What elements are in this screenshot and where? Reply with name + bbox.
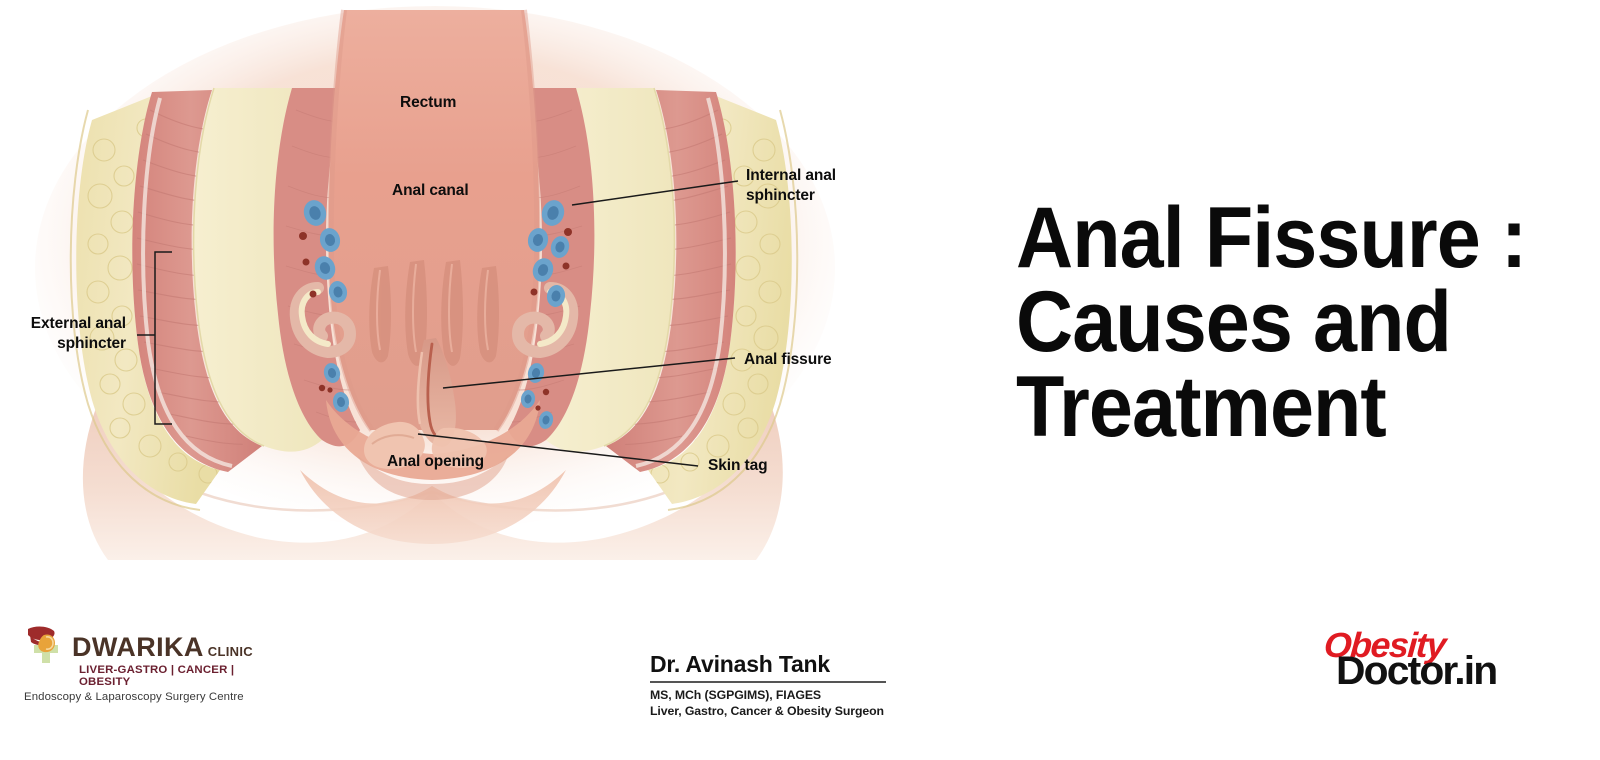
dwarika-tagline: Endoscopy & Laparoscopy Surgery Centre <box>24 691 262 703</box>
doctor-qualifications: MS, MCh (SGPGIMS), FIAGES <box>650 688 940 704</box>
title-line-2: Causes and <box>1016 280 1494 364</box>
label-anal-opening: Anal opening <box>387 452 484 472</box>
doctor-name-divider <box>650 681 886 683</box>
label-anal-fissure: Anal fissure <box>744 350 832 370</box>
label-rectum: Rectum <box>400 93 456 113</box>
obesity-logo-word-black: Doctor.in <box>1336 651 1536 691</box>
label-external-anal-sphincter: External anal sphincter <box>18 314 126 355</box>
obesity-doctor-logo: Obesity Doctor.in <box>1322 628 1532 694</box>
liver-stomach-cross-icon <box>22 623 72 663</box>
label-internal-anal-sphincter: Internal anal sphincter <box>746 166 836 207</box>
title-line-3: Treatment <box>1016 365 1494 449</box>
anal-fissure-illustration: Rectum Anal canal Internal anal sphincte… <box>0 0 900 560</box>
label-anal-canal: Anal canal <box>392 181 469 201</box>
dwarika-specialties: LIVER-GASTRO | CANCER | OBESITY <box>79 664 262 688</box>
dwarika-clinic-logo: DWARIKA CLINIC LIVER-GASTRO | CANCER | O… <box>22 627 262 699</box>
doctor-credentials-block: Dr. Avinash Tank MS, MCh (SGPGIMS), FIAG… <box>650 652 940 720</box>
dwarika-wordmark: DWARIKA <box>72 634 204 661</box>
doctor-name: Dr. Avinash Tank <box>650 652 940 676</box>
title-line-1: Anal Fissure : <box>1016 196 1494 280</box>
page-title: Anal Fissure : Causes and Treatment <box>1016 196 1536 449</box>
dwarika-logo-top-row: DWARIKA CLINIC <box>22 627 262 663</box>
infographic-canvas: Rectum Anal canal Internal anal sphincte… <box>0 0 1600 760</box>
dwarika-icon-svg <box>22 623 72 665</box>
dwarika-clinic-suffix: CLINIC <box>208 644 253 659</box>
label-skin-tag: Skin tag <box>708 456 768 476</box>
doctor-specialty: Liver, Gastro, Cancer & Obesity Surgeon <box>650 704 940 720</box>
